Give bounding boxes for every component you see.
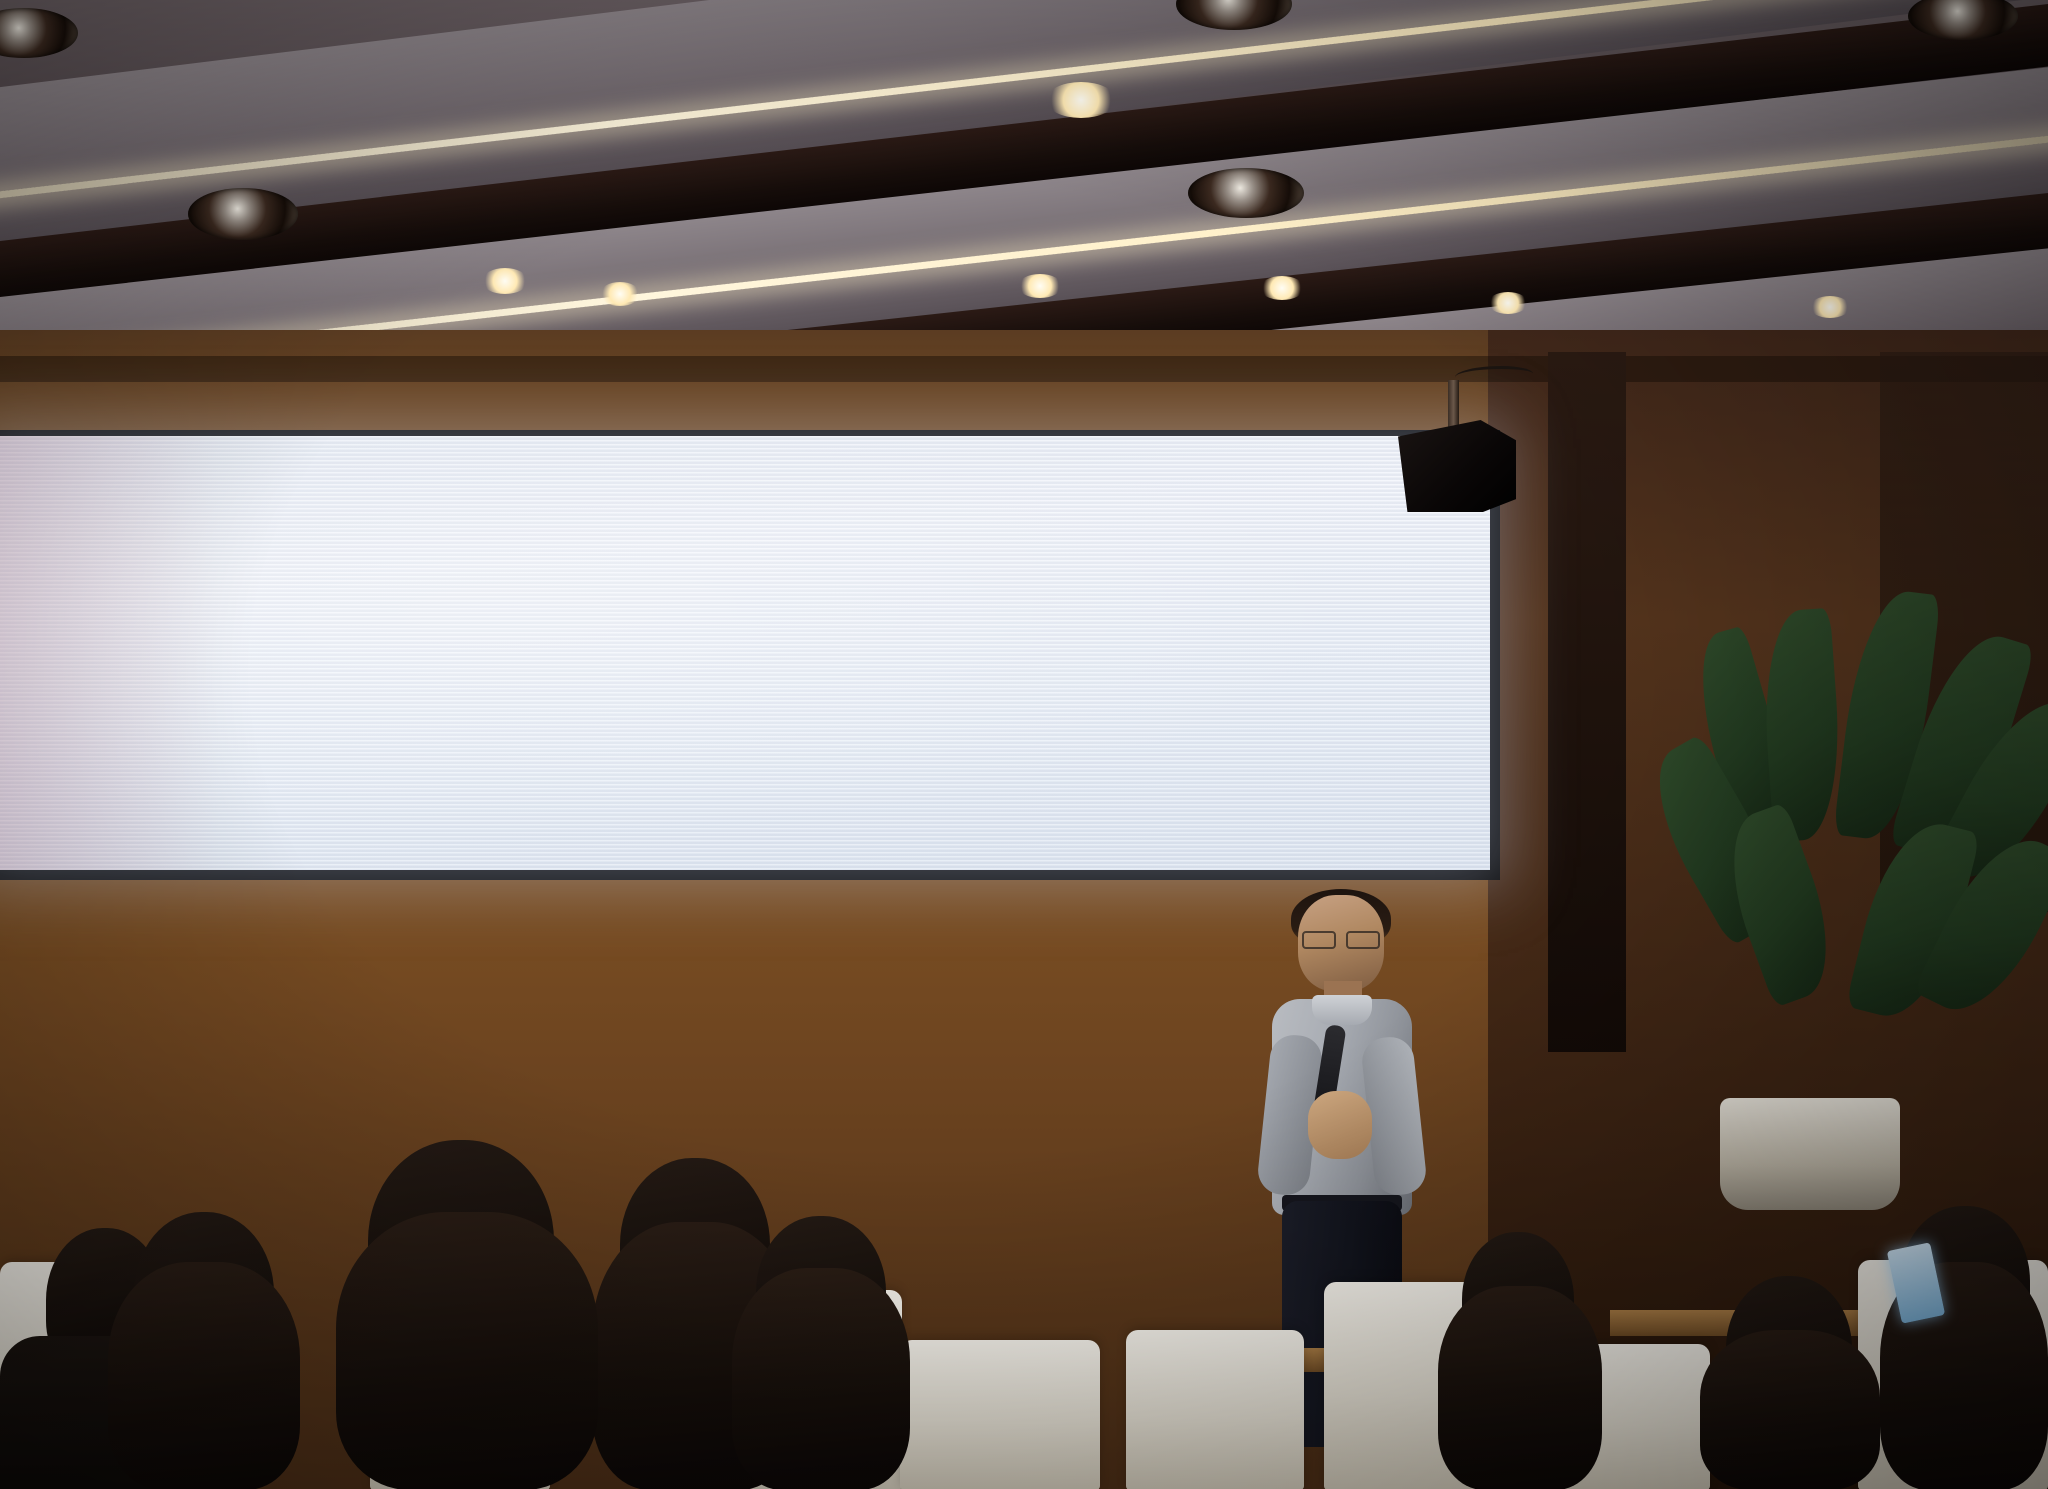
ceiling-downlight bbox=[1488, 292, 1528, 314]
ceiling-spotlight bbox=[188, 188, 298, 240]
ceiling-downlight bbox=[1260, 276, 1304, 300]
presenter-hands bbox=[1308, 1091, 1372, 1159]
projection-glow bbox=[0, 436, 1490, 870]
audience-hair bbox=[336, 1212, 598, 1489]
projection-screen: 招录对象重点高校优秀应届生800余所普通高等院校应届生和社会在职、非在职人员应届… bbox=[0, 436, 1490, 870]
glasses-icon bbox=[1302, 931, 1380, 946]
chair bbox=[1126, 1330, 1304, 1489]
chair bbox=[900, 1340, 1100, 1489]
audience-hair bbox=[108, 1262, 300, 1489]
presenter-collar bbox=[1312, 995, 1372, 1025]
projection-scanlines bbox=[0, 436, 1490, 870]
ceiling-downlight bbox=[482, 268, 528, 294]
ceiling-spotlight bbox=[0, 8, 78, 58]
plant-pot bbox=[1720, 1098, 1900, 1210]
projector bbox=[1398, 420, 1516, 512]
projector-cable bbox=[1455, 366, 1533, 385]
ceiling-downlight bbox=[1810, 296, 1850, 318]
projector-mount-arm bbox=[1448, 380, 1459, 428]
photo-scene: 招录对象重点高校优秀应届生800余所普通高等院校应届生和社会在职、非在职人员应届… bbox=[0, 0, 2048, 1489]
wall-trim bbox=[0, 356, 2048, 382]
ceiling-spotlight bbox=[1188, 168, 1304, 218]
potted-plant bbox=[1700, 620, 2048, 1140]
audience-hair bbox=[1438, 1286, 1602, 1489]
ceiling-downlight bbox=[600, 282, 640, 306]
audience-hair bbox=[732, 1268, 910, 1489]
wall-column bbox=[1548, 352, 1626, 1052]
audience-hair bbox=[1700, 1330, 1880, 1489]
ceiling-downlight bbox=[1046, 82, 1116, 118]
ceiling-downlight bbox=[1018, 274, 1062, 298]
